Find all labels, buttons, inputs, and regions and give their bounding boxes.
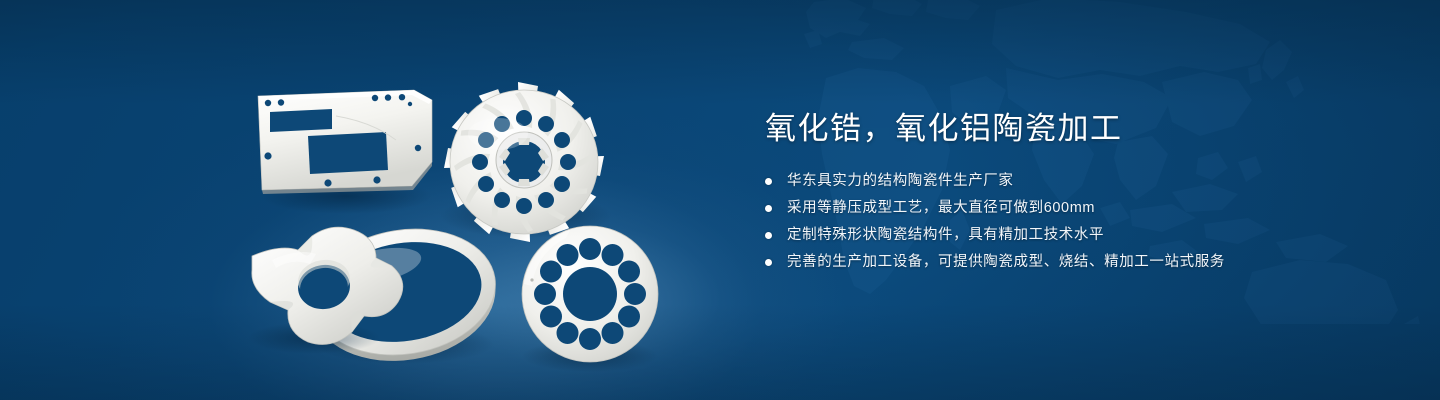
feature-text: 完善的生产加工设备，可提供陶瓷成型、烧结、精加工一站式服务: [787, 255, 1225, 271]
feature-list: 华东具实力的结构陶瓷件生产厂家 采用等静压成型工艺，最大直径可做到600mm 定…: [765, 174, 1365, 271]
ceramic-mounting-plate: [258, 90, 432, 214]
product-banner: 氧化锆，氧化铝陶瓷加工 华东具实力的结构陶瓷件生产厂家 采用等静压成型工艺，最大…: [0, 0, 1440, 400]
list-item: 定制特殊形状陶瓷结构件，具有精加工技术水平: [765, 228, 1365, 244]
list-item: 华东具实力的结构陶瓷件生产厂家: [765, 174, 1365, 190]
page-title: 氧化锆，氧化铝陶瓷加工: [765, 110, 1365, 148]
feature-text: 华东具实力的结构陶瓷件生产厂家: [787, 174, 1014, 190]
list-item: 采用等静压成型工艺，最大直径可做到600mm: [765, 201, 1365, 217]
bullet-dot-icon: [765, 178, 772, 185]
ceramic-impeller: [440, 82, 612, 242]
ceramic-perforated-disc: [522, 226, 658, 372]
ceramic-products-image: [236, 44, 736, 384]
bullet-dot-icon: [765, 205, 772, 212]
feature-text: 定制特殊形状陶瓷结构件，具有精加工技术水平: [787, 228, 1104, 244]
bullet-dot-icon: [765, 259, 772, 266]
feature-text: 采用等静压成型工艺，最大直径可做到600mm: [787, 201, 1095, 217]
banner-copy: 氧化锆，氧化铝陶瓷加工 华东具实力的结构陶瓷件生产厂家 采用等静压成型工艺，最大…: [765, 110, 1365, 282]
list-item: 完善的生产加工设备，可提供陶瓷成型、烧结、精加工一站式服务: [765, 255, 1365, 271]
bullet-dot-icon: [765, 232, 772, 239]
